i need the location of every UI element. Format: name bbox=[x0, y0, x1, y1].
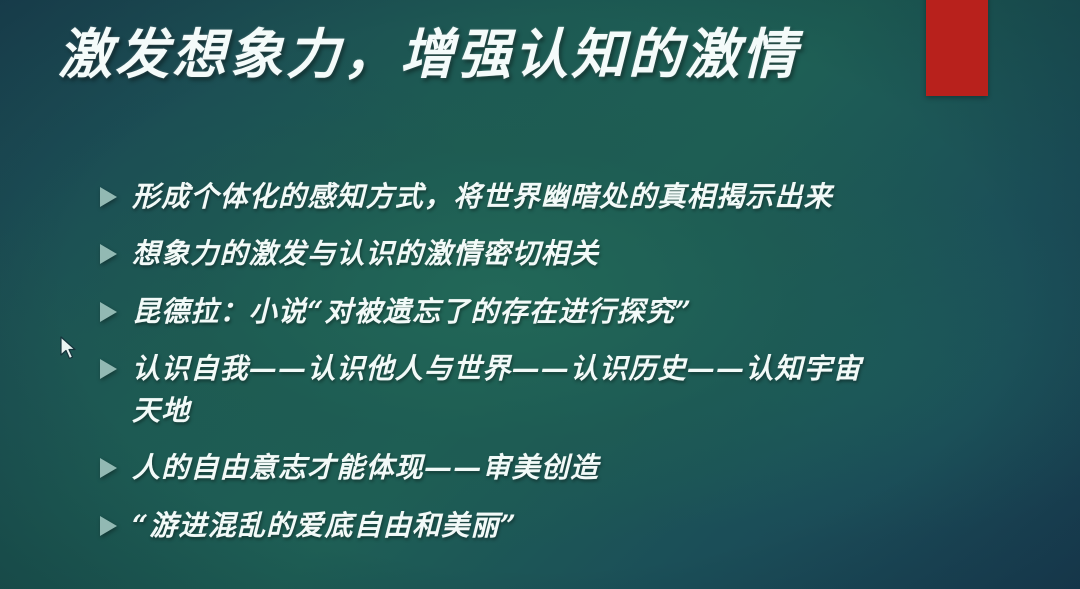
triangle-right-icon bbox=[100, 187, 117, 207]
triangle-right-icon bbox=[100, 516, 117, 536]
mouse-pointer-icon bbox=[60, 336, 78, 362]
list-item: “游进混乱的爱底自由和美丽” bbox=[100, 505, 890, 546]
bullet-item-text: 想象力的激发与认识的激情密切相关 bbox=[132, 233, 890, 274]
bullet-item-text: 昆德拉：小说“对被遗忘了的存在进行探究” bbox=[132, 291, 890, 332]
triangle-right-icon bbox=[100, 302, 117, 322]
triangle-right-icon bbox=[100, 359, 117, 379]
list-item: 想象力的激发与认识的激情密切相关 bbox=[100, 233, 890, 274]
list-item: 人的自由意志才能体现——审美创造 bbox=[100, 447, 890, 488]
bullet-item-text: 人的自由意志才能体现——审美创造 bbox=[132, 447, 890, 488]
presentation-slide: 激发想象力，增强认知的激情 形成个体化的感知方式，将世界幽暗处的真相揭示出来 想… bbox=[0, 0, 1080, 589]
list-item: 认识自我——认识他人与世界——认识历史——认知宇宙天地 bbox=[100, 348, 890, 431]
bullet-item-text: “游进混乱的爱底自由和美丽” bbox=[132, 505, 890, 546]
list-item: 形成个体化的感知方式，将世界幽暗处的真相揭示出来 bbox=[100, 176, 890, 217]
bullet-item-text: 认识自我——认识他人与世界——认识历史——认知宇宙天地 bbox=[132, 348, 890, 431]
list-item: 昆德拉：小说“对被遗忘了的存在进行探究” bbox=[100, 291, 890, 332]
bullet-item-text: 形成个体化的感知方式，将世界幽暗处的真相揭示出来 bbox=[132, 176, 890, 217]
slide-title: 激发想象力，增强认知的激情 bbox=[58, 26, 799, 83]
triangle-right-icon bbox=[100, 458, 117, 478]
bullet-list: 形成个体化的感知方式，将世界幽暗处的真相揭示出来 想象力的激发与认识的激情密切相… bbox=[100, 176, 890, 562]
red-accent-block bbox=[926, 0, 988, 96]
triangle-right-icon bbox=[100, 244, 117, 264]
